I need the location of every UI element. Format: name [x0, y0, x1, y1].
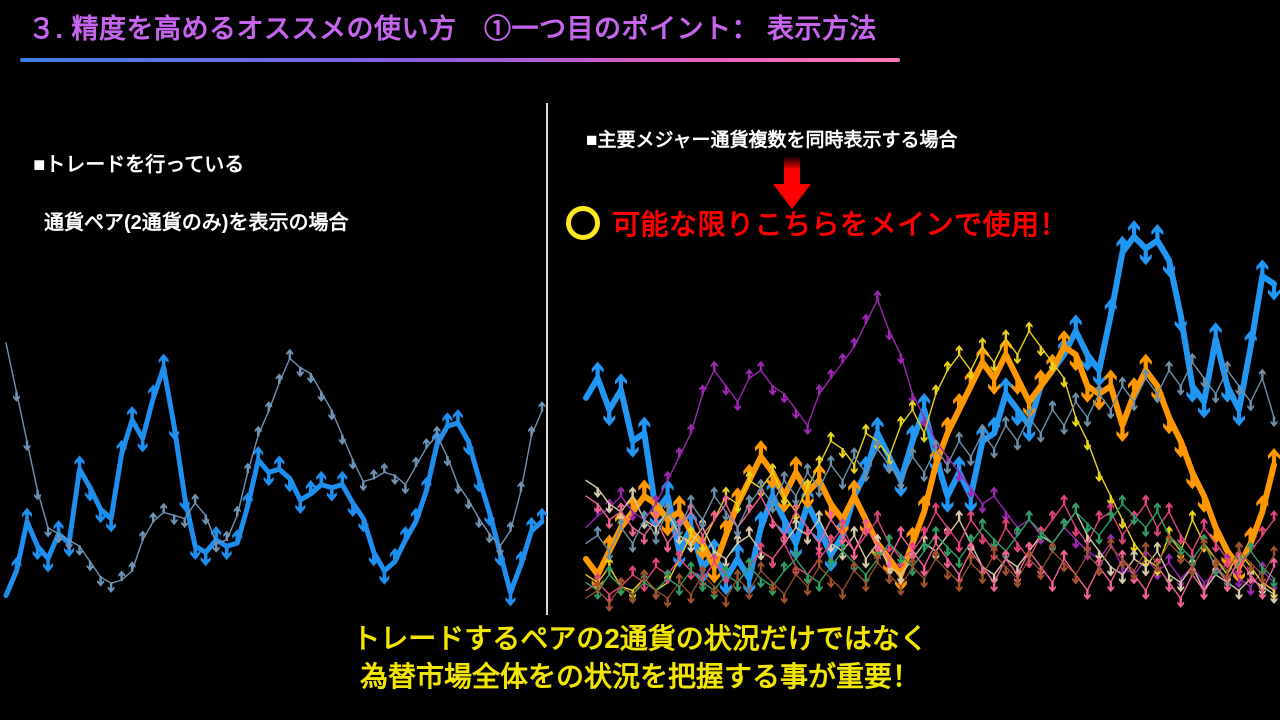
series-marker-gbp-line: [827, 369, 834, 380]
series-marker-nzd-line: [1026, 510, 1033, 521]
series-marker-aud-line: [629, 565, 636, 576]
series-marker-nzd-line: [1142, 527, 1149, 538]
series-marker-pair-quote-currency: [87, 561, 94, 572]
series-marker-pair-base-currency: [106, 517, 116, 532]
series-marker-exotic-line: [944, 570, 951, 581]
series-marker-pair-quote-currency: [454, 484, 461, 495]
series-marker-chf-line: [1131, 549, 1138, 560]
series-marker-pair-quote-currency: [465, 499, 472, 510]
series-marker-exotic-line: [1096, 566, 1103, 577]
series-marker-gbp-line: [792, 409, 799, 420]
series-marker-pair-quote-currency: [160, 503, 167, 514]
series-marker-minor-line: [653, 535, 660, 546]
series-marker-gbp-line: [757, 361, 764, 372]
series-marker-cad-line: [1107, 582, 1114, 593]
series-marker-pair-base-currency: [505, 591, 515, 606]
series-marker-jpy-line: [1037, 346, 1044, 357]
series-marker-usd-line: [1198, 400, 1210, 418]
series-marker-pair-quote-currency: [381, 463, 388, 474]
series-marker-exotic-line: [757, 561, 764, 572]
series-marker-minor-line: [804, 463, 811, 474]
series-marker-jpy-line: [944, 361, 951, 372]
series-marker-aud-line: [1271, 510, 1278, 521]
series-marker-pair-quote-currency: [339, 434, 346, 445]
series-marker-usd-line: [603, 408, 615, 426]
series-marker-gbp-line: [804, 424, 811, 435]
series-marker-pair-base-currency: [201, 551, 211, 566]
series-marker-aud-line: [1259, 526, 1266, 537]
series-marker-pair-quote-currency: [108, 582, 115, 593]
series-marker-usd-line: [732, 542, 744, 560]
series-marker-gbp-line: [1072, 538, 1079, 549]
series-marker-nzd-line: [676, 586, 683, 597]
series-marker-nzd-line: [1154, 502, 1161, 513]
series-marker-gbp-line: [816, 384, 823, 395]
series-marker-jpy-line: [932, 384, 939, 395]
series-marker-pair-base-currency: [379, 570, 389, 585]
series-marker-gbp-line: [1166, 553, 1173, 564]
series-marker-nzd-line: [1061, 518, 1068, 529]
series-marker-pair-quote-currency: [255, 426, 262, 437]
title-underline-rule: [20, 58, 900, 62]
series-marker-gbp-line: [676, 447, 683, 458]
series-marker-gbp-line: [664, 471, 671, 482]
series-marker-minor-line: [594, 526, 601, 537]
series-marker-eur-line: [790, 456, 802, 474]
series-marker-minor-line: [781, 471, 788, 482]
series-marker-jpy-line: [1096, 472, 1103, 483]
series-marker-nzd-line: [979, 518, 986, 529]
series-marker-minor-line: [687, 494, 694, 505]
series-marker-aud-line: [1154, 527, 1161, 538]
series-marker-nzd-line: [1096, 535, 1103, 546]
series-marker-aud-line: [932, 502, 939, 513]
series-marker-usd-line: [1128, 220, 1140, 238]
series-marker-pair-quote-currency: [412, 457, 419, 468]
bottom-caption: トレードするペアの2通貨の状況だけではなく 為替市場全体をの状況を把握する事が重…: [0, 620, 1280, 696]
series-marker-cad-line: [1084, 590, 1091, 601]
series-marker-minor-line: [944, 464, 951, 475]
series-marker-exotic-line: [606, 601, 613, 612]
series-marker-cad-line: [1201, 590, 1208, 601]
series-marker-minor-line: [1049, 400, 1056, 411]
series-marker-minor-line: [839, 479, 846, 490]
series-marker-eur-line: [988, 377, 1000, 395]
series-marker-cad-line: [641, 535, 648, 546]
series-marker-cad-line: [851, 550, 858, 561]
series-marker-gbp-line: [991, 486, 998, 497]
series-marker-aud-line: [1166, 502, 1173, 513]
series-marker-gbp-line: [711, 361, 718, 372]
series-marker-nzd-line: [781, 561, 788, 572]
series-marker-minor-line: [956, 431, 963, 442]
series-marker-pair-base-currency: [295, 499, 305, 514]
series-marker-jpy-line: [979, 337, 986, 348]
series-marker-usd-line: [627, 440, 639, 458]
series-marker-chf-line: [629, 486, 636, 497]
series-marker-pair-quote-currency: [276, 373, 283, 384]
bottom-caption-line-1: トレードするペアの2通貨の状況だけではなく: [0, 620, 1280, 658]
series-marker-aud-line: [967, 510, 974, 521]
series-marker-usd-line: [872, 417, 884, 435]
series-marker-jpy-line: [921, 432, 928, 443]
series-marker-pair-quote-currency: [76, 545, 83, 556]
series-marker-gbp-line: [618, 486, 625, 497]
series-marker-aud-line: [944, 527, 951, 538]
series-marker-pair-base-currency: [369, 551, 379, 566]
series-marker-minor-line: [1072, 392, 1079, 403]
series-marker-jpy-line: [1119, 519, 1126, 530]
series-marker-nzd-line: [1072, 502, 1079, 513]
series-marker-pair-base-currency: [400, 526, 410, 541]
series-marker-nzd-line: [886, 534, 893, 545]
series-marker-cad-line: [1166, 582, 1173, 593]
series-marker-pair-base-currency: [22, 508, 32, 523]
series-marker-aud-line: [1049, 510, 1056, 521]
series-marker-exotic-line: [676, 573, 683, 584]
series-marker-cad-line: [769, 519, 776, 530]
series-marker-cad-line: [781, 535, 788, 546]
series-marker-chf-line: [1236, 590, 1243, 601]
left-panel-caption: ■トレードを行っている 通貨ペア(2通貨のみ)を表示の場合: [22, 122, 348, 267]
series-marker-jpy-line: [909, 400, 916, 411]
series-marker-aud-line: [653, 557, 660, 568]
right-multi-currency-chart: [580, 215, 1280, 620]
series-marker-aud-line: [956, 542, 963, 553]
series-marker-exotic-line: [1002, 566, 1009, 577]
series-marker-eur-line: [1268, 448, 1280, 466]
series-marker-cad-line: [618, 502, 625, 513]
series-marker-pair-quote-currency: [528, 426, 535, 437]
series-marker-pair-quote-currency: [318, 391, 325, 402]
series-marker-usd-line: [1268, 282, 1280, 300]
series-marker-cad-line: [711, 510, 718, 521]
series-marker-gbp-line: [886, 330, 893, 341]
series-marker-aud-line: [921, 526, 928, 537]
left-currency-pair-chart: [0, 300, 548, 620]
series-line-pair-quote-currency: [6, 343, 542, 583]
series-marker-minor-line: [827, 455, 834, 466]
series-marker-exotic-line: [862, 582, 869, 593]
series-marker-jpy-line: [1014, 354, 1021, 365]
series-marker-cad-line: [967, 541, 974, 552]
series-marker-nzd-line: [921, 541, 928, 552]
series-marker-nzd-line: [687, 561, 694, 572]
series-marker-nzd-line: [1107, 510, 1114, 521]
page-title: ３. 精度を高めるオススメの使い方 ①一つ目のポイント： 表示方法: [28, 14, 877, 45]
series-marker-minor-line: [991, 448, 998, 459]
series-marker-pair-quote-currency: [518, 481, 525, 492]
series-marker-minor-line: [629, 542, 636, 553]
series-marker-exotic-line: [1026, 549, 1033, 560]
series-marker-usd-line: [1070, 314, 1082, 332]
series-marker-pair-quote-currency: [475, 518, 482, 529]
series-marker-pair-quote-currency: [286, 349, 293, 360]
series-marker-gbp-line: [874, 290, 881, 301]
series-marker-minor-line: [1084, 417, 1091, 428]
series-marker-cad-line: [664, 542, 671, 553]
series-marker-usd-line: [638, 417, 650, 435]
series-marker-jpy-line: [897, 416, 904, 427]
series-marker-exotic-line: [664, 597, 671, 608]
series-marker-minor-line: [967, 456, 974, 467]
series-marker-gbp-line: [769, 385, 776, 396]
series-marker-gbp-line: [781, 393, 788, 404]
series-marker-pair-quote-currency: [349, 459, 356, 470]
series-marker-jpy-line: [1002, 329, 1009, 340]
series-marker-pair-base-currency: [159, 354, 169, 369]
series-marker-minor-line: [1271, 417, 1278, 428]
series-marker-aud-line: [1072, 527, 1079, 538]
series-marker-pair-quote-currency: [391, 475, 398, 486]
series-marker-pair-quote-currency: [223, 530, 230, 541]
series-marker-aud-line: [1212, 542, 1219, 553]
series-marker-usd-line: [953, 456, 965, 474]
series-marker-eur-line: [755, 440, 767, 458]
series-marker-usd-line: [1256, 259, 1268, 277]
series-marker-minor-line: [711, 486, 718, 497]
series-marker-aud-line: [874, 510, 881, 521]
series-marker-cad-line: [594, 503, 601, 514]
series-marker-chf-line: [594, 487, 601, 498]
series-marker-gbp-line: [746, 369, 753, 380]
series-marker-minor-line: [699, 519, 706, 530]
series-marker-nzd-line: [816, 582, 823, 593]
series-marker-jpy-line: [1189, 510, 1196, 521]
series-marker-exotic-line: [1271, 545, 1278, 556]
series-marker-minor-line: [1166, 361, 1173, 372]
series-marker-cad-line: [1049, 582, 1056, 593]
series-marker-eur-line: [673, 495, 685, 513]
series-marker-minor-line: [979, 424, 986, 435]
series-marker-minor-line: [1212, 393, 1219, 404]
series-marker-exotic-line: [653, 590, 660, 601]
series-marker-aud-line: [1201, 518, 1208, 529]
left-caption-line-1: ■トレードを行っている: [33, 154, 244, 176]
series-marker-exotic-line: [804, 586, 811, 597]
series-marker-minor-line: [757, 479, 764, 490]
series-marker-exotic-line: [956, 582, 963, 593]
series-marker-aud-line: [769, 558, 776, 569]
series-marker-pair-quote-currency: [360, 481, 367, 492]
series-marker-pair-base-currency: [138, 437, 148, 452]
series-marker-exotic-line: [1142, 541, 1149, 552]
series-marker-exotic-line: [734, 569, 741, 580]
series-marker-nzd-line: [757, 578, 764, 589]
series-marker-cad-line: [804, 527, 811, 538]
series-marker-usd-line: [592, 362, 604, 380]
right-panel-caption: ■主要メジャー通貨複数を同時表示する場合: [586, 125, 958, 152]
series-marker-pair-base-currency: [537, 508, 547, 523]
series-marker-pair-quote-currency: [192, 493, 199, 504]
series-marker-pair-quote-currency: [307, 373, 314, 384]
series-marker-cad-line: [897, 526, 904, 537]
series-marker-cad-line: [991, 582, 998, 593]
series-marker-cad-line: [1002, 549, 1009, 560]
series-marker-chf-line: [1154, 541, 1161, 552]
series-marker-pair-quote-currency: [150, 512, 157, 523]
series-marker-jpy-line: [956, 345, 963, 356]
series-marker-exotic-line: [1189, 566, 1196, 577]
series-marker-exotic-line: [1259, 574, 1266, 585]
series-marker-jpy-line: [1072, 417, 1079, 428]
series-marker-exotic-line: [1084, 545, 1091, 556]
series-marker-eur-line: [638, 479, 650, 497]
series-marker-usd-line: [941, 495, 953, 513]
series-marker-minor-line: [746, 494, 753, 505]
series-marker-exotic-line: [979, 574, 986, 585]
series-marker-minor-line: [1061, 424, 1068, 435]
series-marker-eur-line: [1116, 424, 1128, 442]
series-marker-cad-line: [932, 534, 939, 545]
series-marker-minor-line: [641, 510, 648, 521]
series-marker-exotic-line: [792, 565, 799, 576]
series-marker-exotic-line: [851, 561, 858, 572]
series-marker-aud-line: [979, 535, 986, 546]
series-marker-pair-quote-currency: [539, 401, 546, 412]
series-marker-aud-line: [1014, 542, 1021, 553]
series-marker-minor-line: [1002, 416, 1009, 427]
series-marker-nzd-line: [606, 565, 613, 576]
series-marker-exotic-line: [909, 557, 916, 568]
series-marker-pair-quote-currency: [118, 570, 125, 581]
series-marker-aud-line: [1096, 510, 1103, 521]
series-marker-minor-line: [1259, 369, 1266, 380]
series-marker-aud-line: [1061, 494, 1068, 505]
series-marker-exotic-line: [839, 590, 846, 601]
series-marker-gbp-line: [734, 401, 741, 412]
series-marker-minor-line: [921, 472, 928, 483]
series-marker-cad-line: [629, 527, 636, 538]
series-marker-exotic-line: [816, 557, 823, 568]
series-marker-aud-line: [1119, 535, 1126, 546]
series-marker-exotic-line: [781, 593, 788, 604]
series-marker-exotic-line: [618, 577, 625, 588]
series-marker-chf-line: [1119, 574, 1126, 585]
series-marker-minor-line: [1177, 385, 1184, 396]
series-marker-nzd-line: [956, 558, 963, 569]
series-marker-pair-base-currency: [43, 557, 53, 572]
series-marker-gbp-line: [979, 503, 986, 514]
series-marker-usd-line: [1151, 224, 1163, 242]
series-marker-cad-line: [944, 558, 951, 569]
series-marker-usd-line: [1140, 247, 1152, 265]
series-marker-exotic-line: [1119, 558, 1126, 569]
series-marker-exotic-line: [722, 597, 729, 608]
bottom-caption-line-2: 為替市場全体をの状況を把握する事が重要！: [0, 658, 1280, 696]
series-marker-aud-line: [1142, 494, 1149, 505]
series-marker-usd-line: [1210, 322, 1222, 340]
series-marker-gbp-line: [862, 314, 869, 325]
series-marker-minor-line: [1119, 376, 1126, 387]
series-marker-minor-line: [722, 511, 729, 522]
series-marker-exotic-line: [594, 581, 601, 592]
series-marker-gbp-line: [1247, 586, 1254, 597]
series-marker-minor-line: [1037, 432, 1044, 443]
series-marker-exotic-line: [932, 549, 939, 560]
series-marker-usd-line: [1000, 377, 1012, 395]
series-marker-gbp-line: [839, 353, 846, 364]
series-marker-pair-quote-currency: [139, 530, 146, 541]
series-marker-minor-line: [1107, 409, 1114, 420]
series-marker-exotic-line: [1212, 558, 1219, 569]
series-marker-exotic-line: [1072, 574, 1079, 585]
series-marker-aud-line: [1002, 518, 1009, 529]
series-marker-minor-line: [734, 527, 741, 538]
series-marker-chf-line: [862, 558, 869, 569]
series-marker-minor-line: [792, 495, 799, 506]
series-marker-exotic-line: [687, 593, 694, 604]
series-marker-exotic-line: [886, 574, 893, 585]
series-marker-eur-line: [1105, 369, 1117, 387]
series-marker-exotic-line: [1049, 541, 1056, 552]
series-marker-gbp-line: [699, 384, 706, 395]
series-marker-jpy-line: [827, 431, 834, 442]
series-marker-usd-line: [615, 373, 627, 391]
series-marker-gbp-line: [722, 385, 729, 396]
series-marker-nzd-line: [1014, 526, 1021, 537]
series-marker-jpy-line: [839, 448, 846, 459]
series-marker-usd-line: [1233, 408, 1245, 426]
series-marker-jpy-line: [862, 424, 869, 435]
series-marker-cad-line: [1177, 597, 1184, 608]
series-marker-chf-line: [1142, 566, 1149, 577]
series-marker-cad-line: [722, 494, 729, 505]
series-marker-nzd-line: [1119, 494, 1126, 505]
series-marker-cad-line: [1061, 549, 1068, 560]
series-marker-cad-line: [816, 542, 823, 553]
series-marker-jpy-line: [816, 455, 823, 466]
series-marker-pair-quote-currency: [423, 438, 430, 449]
series-marker-pair-quote-currency: [402, 484, 409, 495]
series-marker-chf-line: [851, 526, 858, 537]
series-marker-chf-line: [956, 510, 963, 521]
series-marker-exotic-line: [921, 578, 928, 589]
series-marker-chf-line: [746, 526, 753, 537]
down-arrow-icon: [770, 156, 814, 210]
series-marker-nzd-line: [792, 549, 799, 560]
series-marker-exotic-line: [827, 578, 834, 589]
series-marker-exotic-line: [1236, 541, 1243, 552]
series-marker-pair-quote-currency: [486, 533, 493, 544]
series-marker-chf-line: [1107, 566, 1114, 577]
series-marker-gbp-line: [851, 337, 858, 348]
series-marker-pair-base-currency: [54, 520, 64, 535]
series-line-pair-base-currency: [6, 368, 542, 596]
series-marker-pair-quote-currency: [328, 410, 335, 421]
series-marker-jpy-line: [851, 464, 858, 475]
left-caption-line-2: 通貨ペア(2通貨のみ)を表示の場合: [22, 209, 348, 238]
series-marker-cad-line: [606, 519, 613, 530]
series-marker-cad-line: [1142, 590, 1149, 601]
series-marker-minor-line: [1014, 440, 1021, 451]
series-marker-minor-line: [1247, 401, 1254, 412]
series-marker-pair-base-currency: [127, 406, 137, 421]
series-marker-jpy-line: [1026, 321, 1033, 332]
series-marker-pair-base-currency: [75, 455, 85, 470]
